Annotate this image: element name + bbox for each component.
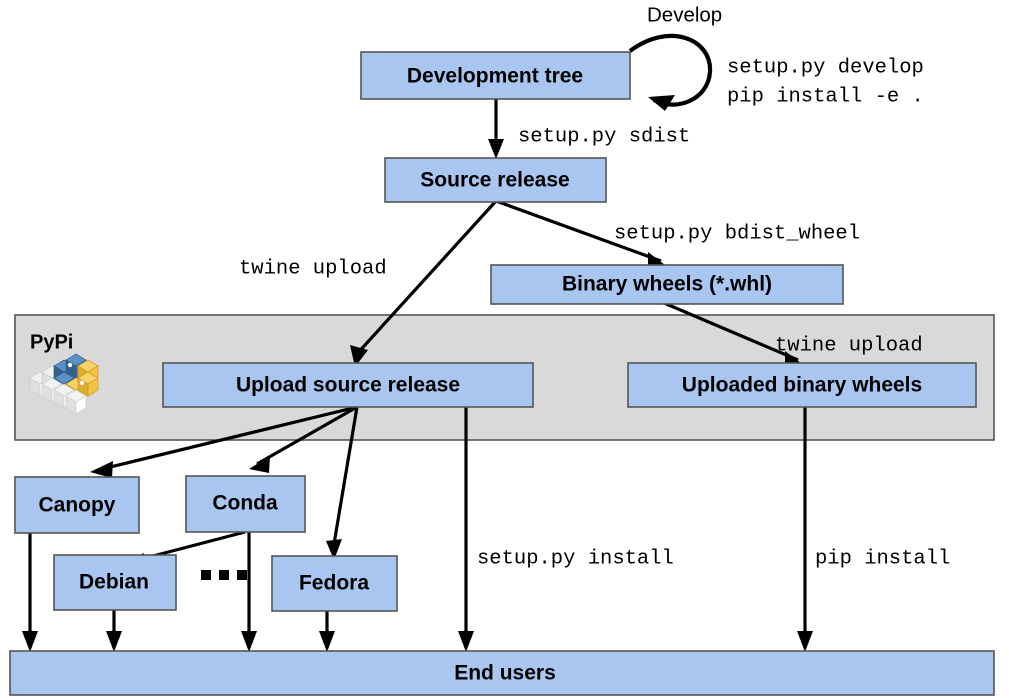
edge-label-develop: Develop xyxy=(647,3,722,26)
node-conda-label: Conda xyxy=(212,492,278,515)
ellipsis-more-distros xyxy=(201,570,247,580)
node-uploaded-binary-wheels[interactable]: Uploaded binary wheels xyxy=(628,363,976,407)
node-source-release[interactable]: Source release xyxy=(385,158,606,202)
node-end-users[interactable]: End users xyxy=(10,651,994,695)
node-fedora[interactable]: Fedora xyxy=(272,556,397,611)
edge-uploaded-wheels-to-end-users xyxy=(797,407,813,652)
node-debian[interactable]: Debian xyxy=(54,555,176,610)
packaging-flow-diagram: PyPi xyxy=(0,0,1009,698)
node-binary-wheels[interactable]: Binary wheels (*.whl) xyxy=(491,265,843,304)
edge-label-pip-install-editable: pip install -e . xyxy=(727,85,924,108)
node-end-users-label: End users xyxy=(454,662,556,685)
node-binary-wheels-label: Binary wheels (*.whl) xyxy=(562,273,772,296)
node-development-tree-label: Development tree xyxy=(407,65,583,88)
edge-canopy-to-end-users xyxy=(22,533,38,652)
node-debian-label: Debian xyxy=(79,571,149,594)
edge-dev-to-source xyxy=(488,99,504,159)
edge-label-twine-upload-source: twine upload xyxy=(239,257,387,280)
node-source-release-label: Source release xyxy=(420,169,569,192)
edge-conda-to-end-users xyxy=(241,532,257,652)
edge-label-setup-install: setup.py install xyxy=(477,547,674,570)
pypi-group-label: PyPi xyxy=(30,331,73,353)
node-canopy[interactable]: Canopy xyxy=(15,477,139,533)
edge-fedora-to-end-users xyxy=(319,610,335,652)
node-development-tree[interactable]: Development tree xyxy=(361,52,630,99)
edge-label-setup-develop: setup.py develop xyxy=(727,56,924,79)
node-uploaded-binary-wheels-label: Uploaded binary wheels xyxy=(682,374,922,397)
node-upload-source-release-label: Upload source release xyxy=(236,374,460,397)
node-conda[interactable]: Conda xyxy=(186,476,305,532)
edge-label-twine-upload-wheels: twine upload xyxy=(775,334,923,357)
edge-label-pip-install: pip install xyxy=(815,547,950,570)
edge-upload-source-to-end-users xyxy=(458,407,474,652)
edge-label-setup-sdist: setup.py sdist xyxy=(518,125,690,148)
edge-develop-loop xyxy=(630,36,710,111)
node-upload-source-release[interactable]: Upload source release xyxy=(163,363,533,407)
node-canopy-label: Canopy xyxy=(38,494,115,517)
edge-label-setup-bdist-wheel: setup.py bdist_wheel xyxy=(614,222,860,245)
node-fedora-label: Fedora xyxy=(299,572,369,595)
edge-debian-to-end-users xyxy=(106,610,122,652)
